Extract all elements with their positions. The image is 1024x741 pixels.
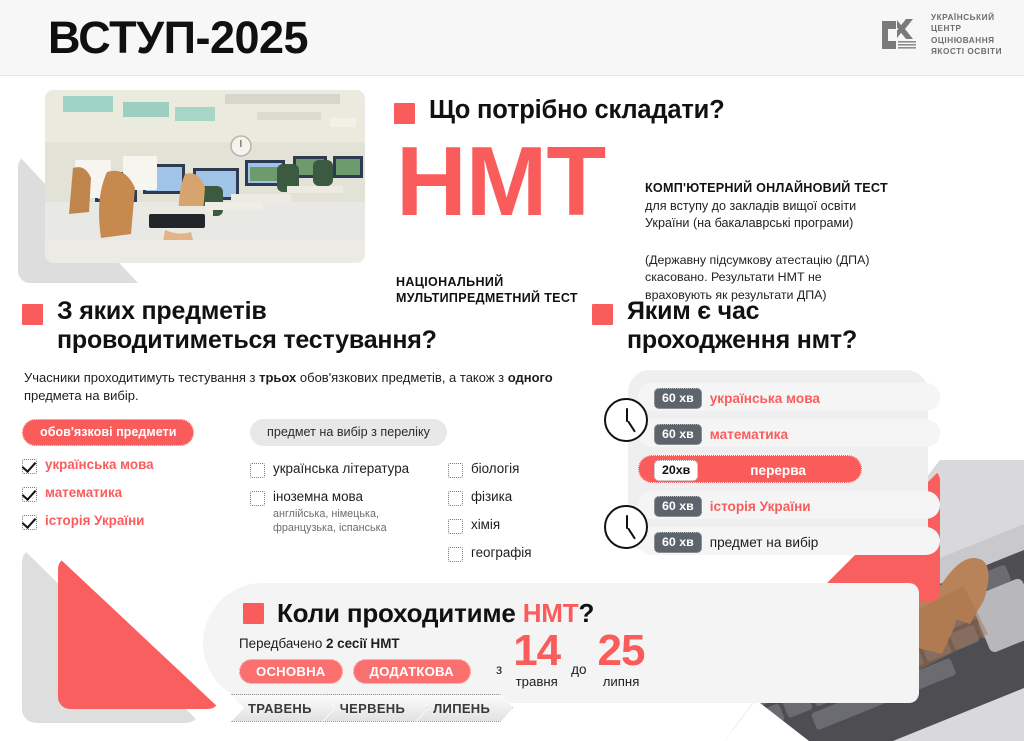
mandatory-item-history-of-ukraine[interactable]: історія України (22, 513, 222, 530)
optional-label: біологія (471, 461, 519, 477)
mandatory-label: історія України (45, 513, 144, 529)
duration-row-ukrainian-language: 60 хв українська мова (620, 380, 940, 416)
when-heading-text: Коли проходитиме НМТ? (277, 598, 594, 629)
month-timeline: ТРАВЕНЬ ЧЕРВЕНЬ ЛИПЕНЬ (231, 694, 501, 722)
page-title: ВСТУП-2025 (48, 12, 308, 64)
optional-item-physics[interactable]: фізика (448, 489, 558, 506)
checkbox-empty-icon[interactable] (448, 463, 463, 478)
mandatory-item-mathematics[interactable]: математика (22, 485, 222, 502)
logo-line-1: УКРАЇНСЬКИЙ (931, 12, 1002, 23)
when-title-part-a: Коли проходитиме (277, 598, 523, 628)
duration-section: Яким є час проходження нмт? (592, 297, 992, 355)
nmt-type-caption: КОМП'ЮТЕРНИЙ ОНЛАЙНОВИЙ ТЕСТ (645, 181, 945, 195)
red-square-bullet-icon (592, 304, 613, 325)
optional-item-ukrainian-literature[interactable]: українська література (250, 461, 440, 478)
duration-row-history-of-ukraine: 60 хв історія України (620, 488, 940, 524)
duration-label: українська мова (710, 391, 820, 406)
checkbox-checked-icon[interactable] (22, 515, 37, 530)
logo-line-3: ОЦІНЮВАННЯ (931, 35, 1002, 46)
subjects-heading-text: З яких предметів проводитиметься тестува… (57, 297, 437, 355)
session-main-badge[interactable]: ОСНОВНА (239, 659, 343, 684)
lead-part-a: Учасники проходитимуть тестування з (24, 370, 259, 385)
logo-line-4: ЯКОСТІ ОСВІТИ (931, 46, 1002, 57)
computer-lab-photo (45, 90, 365, 263)
nmt-heading: Що потрібно складати? (394, 96, 994, 126)
optional-label: хімія (471, 517, 500, 533)
mandatory-label: українська мова (45, 457, 154, 473)
optional-label: українська література (273, 461, 409, 477)
optional-item-biology[interactable]: біологія (448, 461, 558, 478)
checkbox-checked-icon[interactable] (22, 487, 37, 502)
nmt-dpa-note-line-2: скасовано. Результати НМТ не (645, 269, 945, 286)
mandatory-subjects-pill: обов'язкові предмети (22, 419, 194, 446)
logo-line-2: ЦЕНТР (931, 23, 1002, 34)
checkbox-empty-icon[interactable] (448, 491, 463, 506)
optional-item-chemistry[interactable]: хімія (448, 517, 558, 534)
optional-subjects-column: предмет на вибір з переліку українська л… (250, 419, 540, 550)
red-triangle-bottom-left (58, 557, 220, 709)
from-preposition: з (496, 662, 502, 689)
nmt-dpa-note-line-1: (Державну підсумкову атестацію (ДПА) (645, 252, 945, 269)
when-sub-part-a: Передбачено (239, 636, 326, 651)
subjects-heading: З яких предметів проводитиметься тестува… (22, 297, 567, 355)
date-range: з 14 травня до 25 липня (496, 631, 645, 689)
foreign-language-options: англійська, німецька, французька, іспанс… (273, 507, 433, 535)
when-sessions-note: Передбачено 2 сесії НМТ (239, 636, 400, 651)
duration-heading-line-1: Яким є час (627, 297, 857, 326)
month-chevron-july: ЛИПЕНЬ (416, 694, 513, 722)
break-label: перерва (750, 463, 806, 478)
subjects-heading-line-1: З яких предметів (57, 297, 437, 326)
infographic-page: ВСТУП-2025 УКРАЇНСЬКИЙ ЦЕНТР ОЦІНЮВАННЯ … (0, 0, 1024, 741)
break-duration-badge: 20хв (654, 460, 698, 481)
optional-item-geography[interactable]: географія (448, 545, 558, 562)
page-header: ВСТУП-2025 УКРАЇНСЬКИЙ ЦЕНТР ОЦІНЮВАННЯ … (0, 0, 1024, 76)
checkbox-empty-icon[interactable] (250, 491, 265, 506)
optional-left-list: українська література іноземна мова англ… (250, 450, 440, 535)
to-preposition: до (571, 662, 586, 689)
from-month: травня (513, 674, 560, 689)
nmt-abbreviation: НМТ (396, 136, 605, 226)
mandatory-label: математика (45, 485, 122, 501)
checkbox-checked-icon[interactable] (22, 459, 37, 474)
optional-label: фізика (471, 489, 512, 505)
red-square-bullet-icon (243, 603, 264, 624)
duration-label: математика (710, 427, 788, 442)
clock-icon-first-block (604, 398, 648, 442)
month-chevron-june: ЧЕРВЕНЬ (323, 694, 428, 722)
duration-badge: 60 хв (654, 532, 702, 553)
ucoqo-logo: УКРАЇНСЬКИЙ ЦЕНТР ОЦІНЮВАННЯ ЯКОСТІ ОСВІ… (880, 12, 1002, 57)
when-heading: Коли проходитиме НМТ? (243, 598, 594, 629)
from-date: 14 травня (513, 631, 560, 689)
nmt-description: КОМП'ЮТЕРНИЙ ОНЛАЙНОВИЙ ТЕСТ для вступу … (645, 181, 945, 304)
nmt-purpose-line-1: для вступу до закладів вищої освіти (645, 198, 945, 215)
to-date: 25 липня (598, 631, 645, 689)
nmt-purpose-line-2: України (на бакалаврські програми) (645, 215, 945, 232)
month-chevron-may: ТРАВЕНЬ (231, 694, 335, 722)
subjects-lead-text: Учасники проходитимуть тестування з трьо… (24, 369, 554, 406)
duration-label: історія України (710, 499, 811, 514)
checkbox-empty-icon[interactable] (448, 547, 463, 562)
optional-label: іноземна мова (273, 489, 433, 505)
duration-heading-text: Яким є час проходження нмт? (627, 297, 857, 355)
when-title-part-c: ? (578, 598, 594, 628)
book-logo-icon (880, 15, 922, 55)
duration-badge: 60 хв (654, 424, 702, 445)
lead-part-c: обов'язкових предметів, а також з (296, 370, 507, 385)
duration-heading: Яким є час проходження нмт? (592, 297, 992, 355)
when-title-nmt: НМТ (523, 598, 579, 628)
logo-text: УКРАЇНСЬКИЙ ЦЕНТР ОЦІНЮВАННЯ ЯКОСТІ ОСВІ… (931, 12, 1002, 57)
nmt-heading-text: Що потрібно складати? (429, 96, 725, 126)
red-square-bullet-icon (22, 304, 43, 325)
nmt-full-name-line-1: НАЦІОНАЛЬНИЙ (396, 274, 578, 291)
lead-bold-three: трьох (259, 370, 296, 385)
duration-badge: 60 хв (654, 388, 702, 409)
subjects-section: З яких предметів проводитиметься тестува… (22, 297, 567, 544)
lead-bold-one: одного (508, 370, 553, 385)
red-square-bullet-icon (394, 103, 415, 124)
computer-lab-illustration (45, 90, 365, 263)
duration-row-elective-subject: 60 хв предмет на вибір (620, 524, 940, 560)
duration-badge: 60 хв (654, 496, 702, 517)
to-day: 25 (598, 631, 645, 671)
optional-label: географія (471, 545, 532, 561)
duration-rows: 60 хв українська мова 60 хв математика 2… (620, 380, 940, 560)
optional-right-list: біологія фізика хімія географія (448, 450, 558, 562)
duration-heading-line-2: проходження нмт? (627, 326, 857, 355)
session-pills: ОСНОВНА ДОДАТКОВА (239, 659, 471, 684)
nmt-section: Що потрібно складати? НМТ НАЦІОНАЛЬНИЙ М… (394, 96, 994, 314)
checkbox-empty-icon[interactable] (250, 463, 265, 478)
optional-subjects-pill: предмет на вибір з переліку (250, 419, 447, 446)
clock-icon-second-block (604, 505, 648, 549)
optional-item-foreign-language[interactable]: іноземна мова англійська, німецька, фран… (250, 489, 440, 535)
duration-row-break: 20хв перерва (620, 452, 940, 488)
duration-row-mathematics: 60 хв математика (620, 416, 940, 452)
checkbox-empty-icon[interactable] (448, 519, 463, 534)
to-month: липня (598, 674, 645, 689)
session-additional-badge[interactable]: ДОДАТКОВА (353, 659, 471, 684)
when-sub-bold: 2 сесії НМТ (326, 636, 400, 651)
from-day: 14 (513, 631, 560, 671)
mandatory-item-ukrainian-language[interactable]: українська мова (22, 457, 222, 474)
subjects-heading-line-2: проводитиметься тестування? (57, 326, 437, 355)
lead-part-e: предмета на вибір. (24, 388, 139, 403)
duration-label: предмет на вибір (710, 535, 819, 550)
mandatory-subjects-column: обов'язкові предмети українська мова мат… (22, 419, 222, 530)
